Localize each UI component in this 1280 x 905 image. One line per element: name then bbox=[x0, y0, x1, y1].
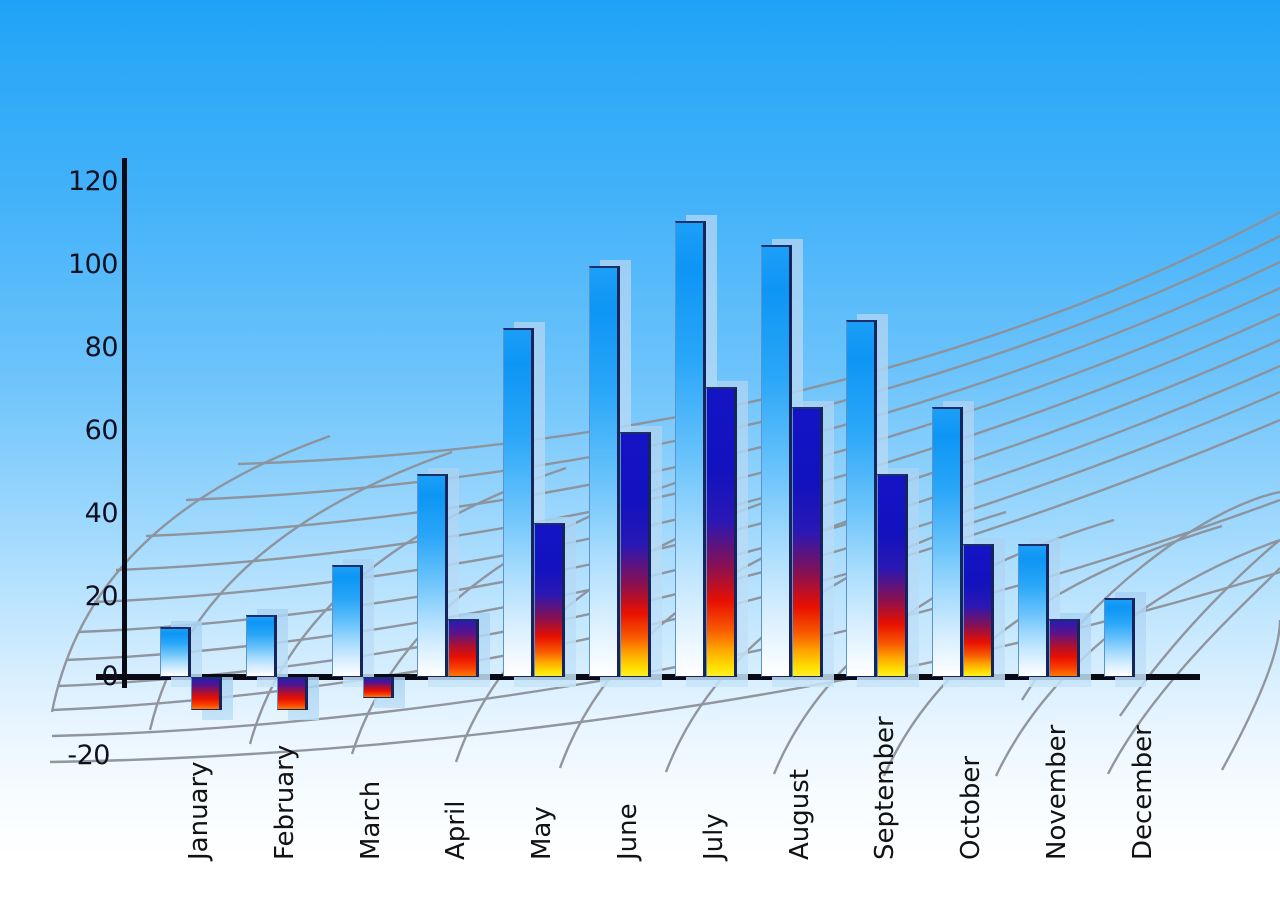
x-tick-label-sep: September bbox=[870, 716, 900, 860]
chart-root: 120 100 80 60 40 20 0 -20 JanuaryFebruar… bbox=[0, 0, 1280, 905]
x-tick-label-feb: February bbox=[270, 745, 300, 860]
x-tick-label-oct: October bbox=[956, 756, 986, 860]
x-tick-label-mar: March bbox=[356, 781, 386, 860]
y-tick-20: 20 bbox=[48, 581, 118, 612]
y-tick-neg20: -20 bbox=[40, 740, 110, 771]
y-tick-0: 0 bbox=[48, 661, 118, 692]
bar[interactable] bbox=[963, 544, 994, 677]
x-tick-label-dec: December bbox=[1128, 725, 1158, 860]
x-tick-label-jan: January bbox=[184, 761, 214, 860]
bar[interactable] bbox=[706, 387, 737, 678]
x-tick-label-aug: August bbox=[785, 769, 815, 860]
bar[interactable] bbox=[877, 474, 908, 677]
bar[interactable] bbox=[277, 677, 308, 710]
x-tick-label-apr: April bbox=[441, 801, 471, 860]
x-tick-label-may: May bbox=[527, 806, 557, 860]
bar[interactable] bbox=[792, 407, 823, 677]
y-tick-120: 120 bbox=[48, 166, 118, 197]
y-tick-100: 100 bbox=[48, 249, 118, 280]
bar[interactable] bbox=[448, 619, 479, 677]
y-axis-line bbox=[122, 158, 127, 688]
plot-area: 120 100 80 60 40 20 0 -20 JanuaryFebruar… bbox=[0, 0, 1280, 905]
bar[interactable] bbox=[332, 565, 363, 677]
y-tick-40: 40 bbox=[48, 498, 118, 529]
bar[interactable] bbox=[932, 407, 963, 677]
x-tick-label-jul: July bbox=[699, 813, 729, 860]
bar[interactable] bbox=[363, 677, 394, 698]
bar[interactable] bbox=[503, 328, 534, 677]
bar[interactable] bbox=[1104, 598, 1135, 677]
bar[interactable] bbox=[534, 523, 565, 677]
bar[interactable] bbox=[675, 221, 706, 678]
bar[interactable] bbox=[191, 677, 222, 710]
bar[interactable] bbox=[620, 432, 651, 677]
bar[interactable] bbox=[246, 615, 277, 677]
y-tick-60: 60 bbox=[48, 415, 118, 446]
bar[interactable] bbox=[1018, 544, 1049, 677]
bar[interactable] bbox=[846, 320, 877, 677]
y-tick-80: 80 bbox=[48, 332, 118, 363]
bar[interactable] bbox=[589, 266, 620, 677]
bar[interactable] bbox=[417, 474, 448, 677]
bar[interactable] bbox=[1049, 619, 1080, 677]
x-tick-label-nov: November bbox=[1042, 725, 1072, 860]
x-tick-label-jun: June bbox=[613, 803, 643, 860]
bar[interactable] bbox=[761, 245, 792, 677]
bar[interactable] bbox=[160, 627, 191, 677]
